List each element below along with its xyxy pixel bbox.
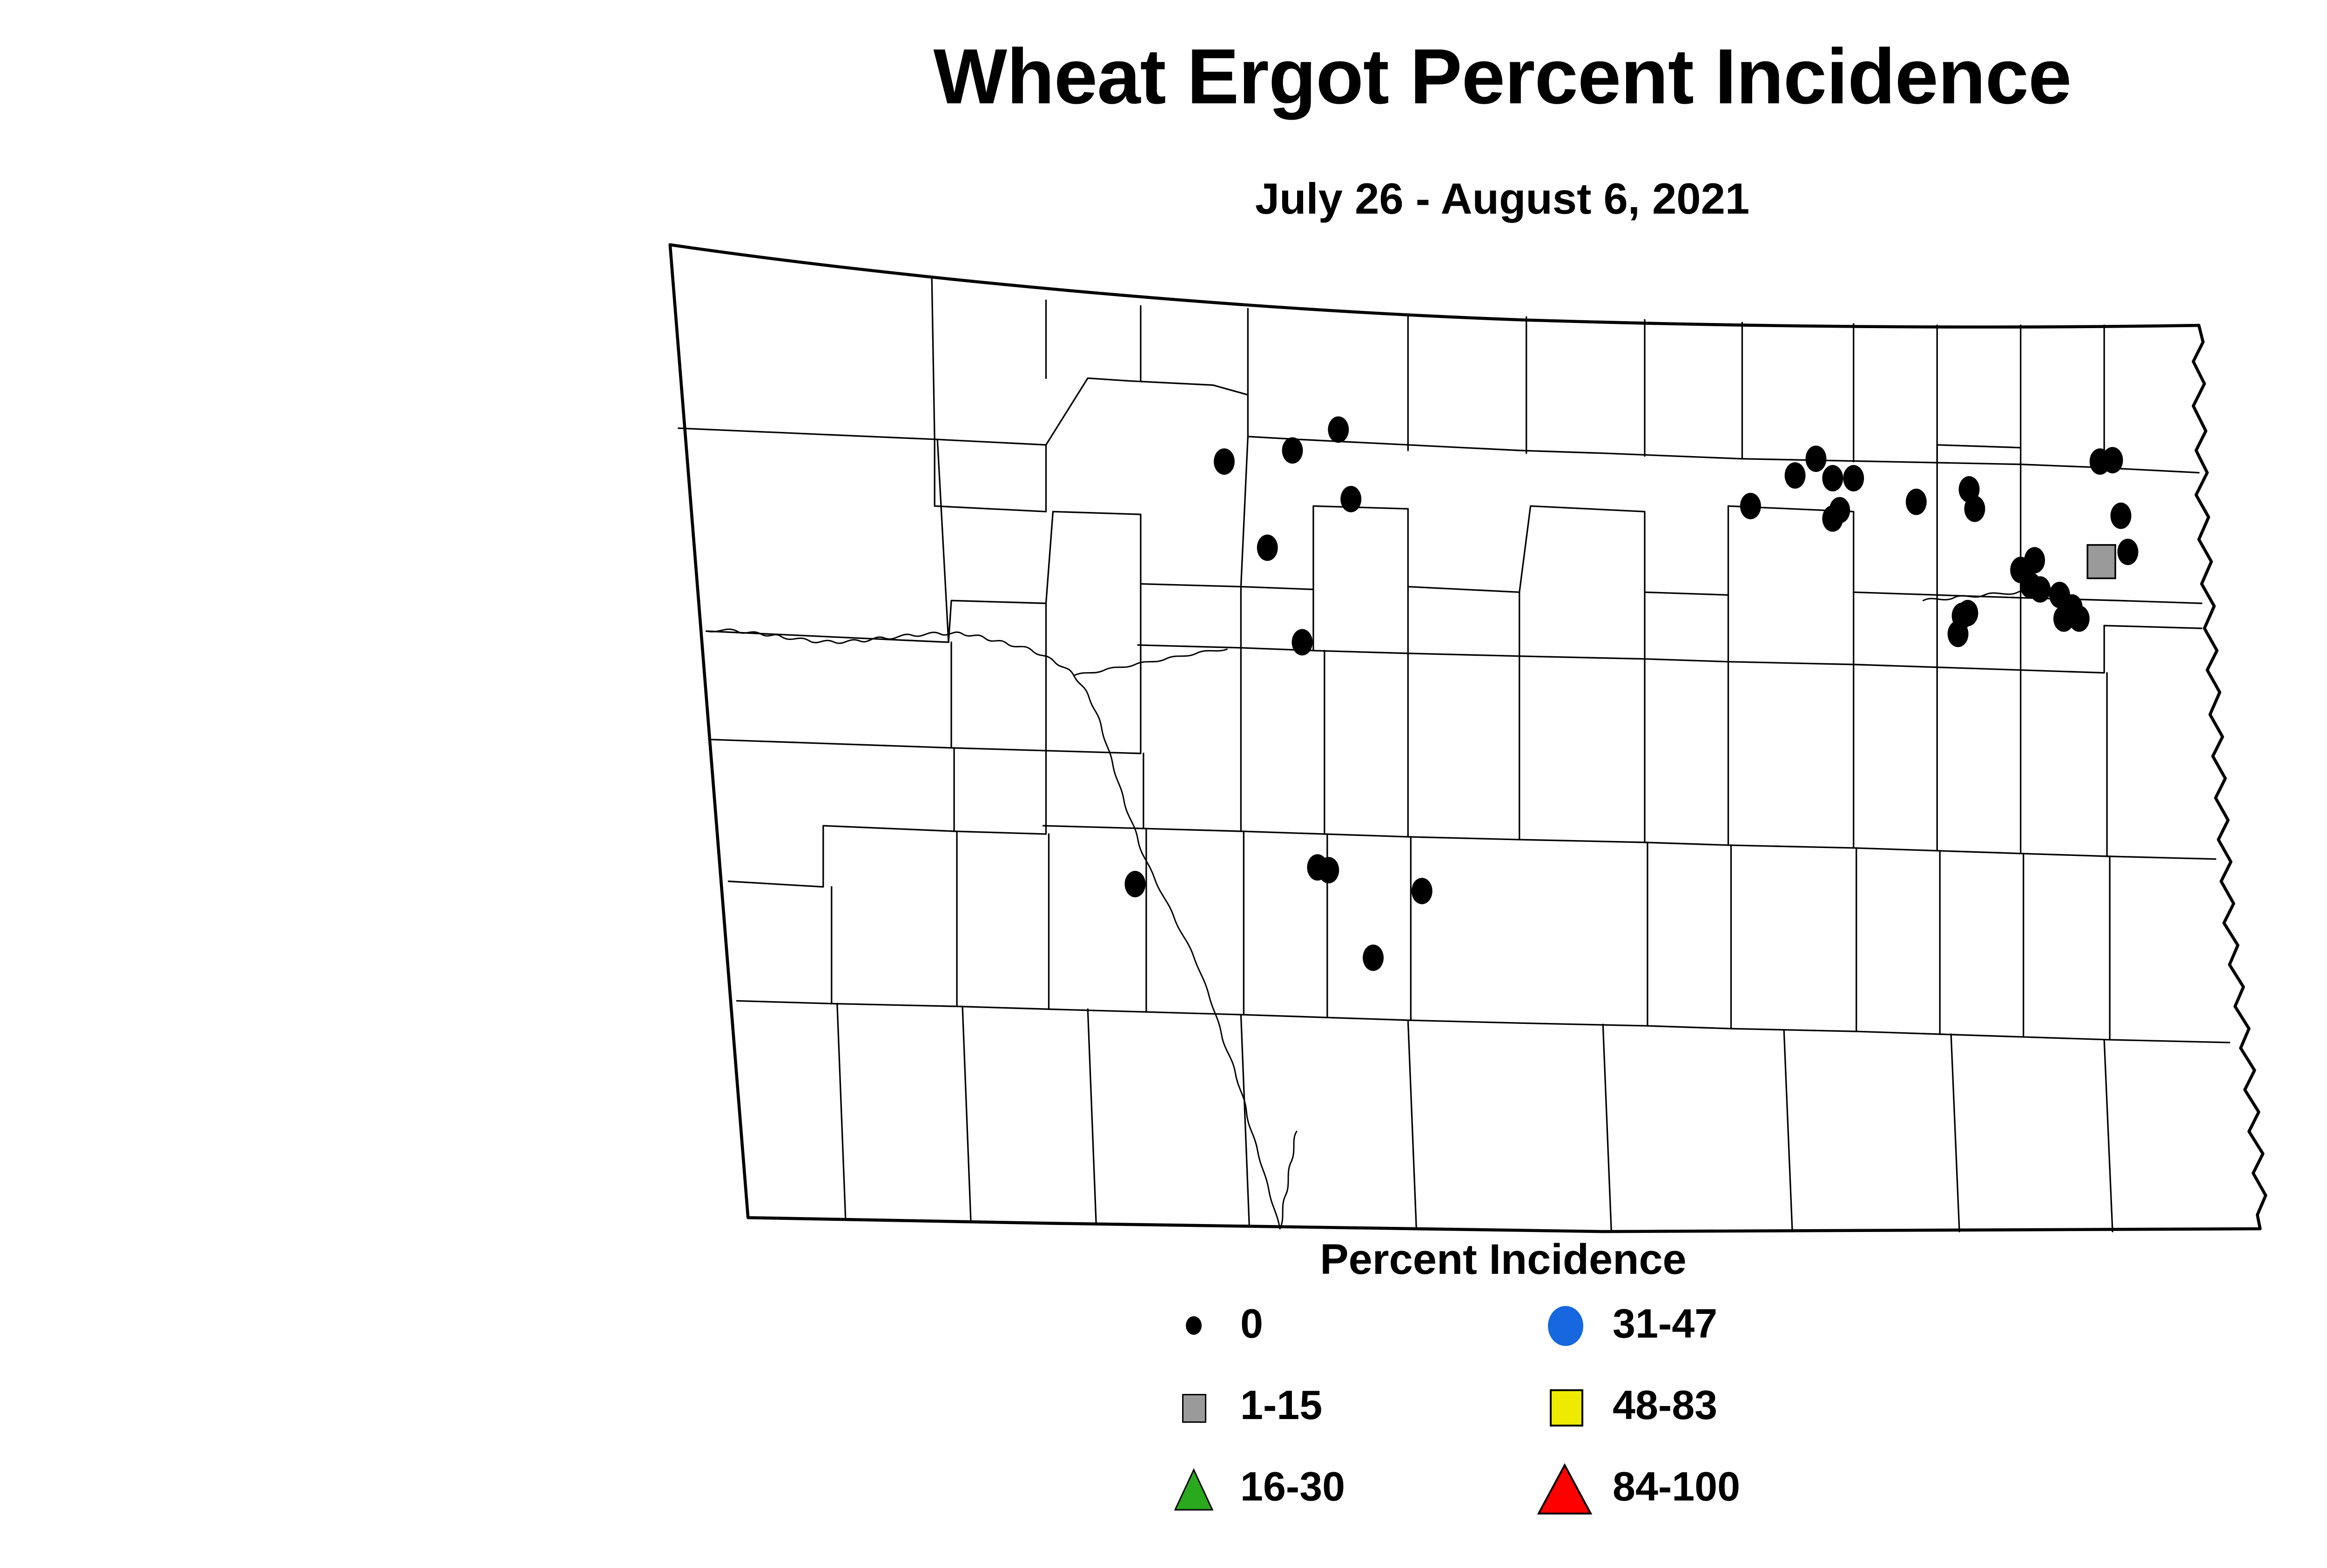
legend-column-right: 31-47 48-83 84-100 bbox=[1536, 1299, 1890, 1543]
legend-title: Percent Incidence bbox=[1108, 1238, 1899, 1281]
marker-dot-zero[interactable] bbox=[1328, 417, 1349, 443]
page-subtitle: July 26 - August 6, 2021 bbox=[0, 177, 2327, 221]
marker-square-1-15[interactable] bbox=[2087, 545, 2115, 579]
red-triangle-icon bbox=[1536, 1461, 1596, 1517]
legend: Percent Incidence 0 1-15 bbox=[1108, 1238, 1899, 1527]
legend-item-0[interactable]: 0 bbox=[1163, 1299, 1517, 1380]
marker-dot-zero[interactable] bbox=[1363, 944, 1384, 971]
legend-item-label: 0 bbox=[1240, 1301, 1263, 1346]
marker-dot-zero[interactable] bbox=[1822, 465, 1843, 491]
yellow-square-icon bbox=[1536, 1380, 1596, 1436]
blue-circle-icon bbox=[1536, 1299, 1596, 1354]
legend-item-1-15[interactable]: 1-15 bbox=[1163, 1380, 1517, 1461]
marker-dot-zero[interactable] bbox=[1948, 621, 1969, 647]
marker-dot-zero[interactable] bbox=[1843, 465, 1864, 491]
marker-dot-zero[interactable] bbox=[1257, 534, 1278, 561]
marker-dot-zero[interactable] bbox=[1740, 493, 1761, 519]
marker-dot-zero[interactable] bbox=[1340, 486, 1361, 512]
marker-dot-zero[interactable] bbox=[2069, 606, 2090, 632]
marker-dot-zero[interactable] bbox=[1292, 629, 1313, 656]
marker-dot-zero[interactable] bbox=[1906, 489, 1927, 515]
legend-item-16-30[interactable]: 16-30 bbox=[1163, 1461, 1517, 1543]
marker-dot-zero[interactable] bbox=[2102, 447, 2123, 473]
north-dakota-county-map[interactable] bbox=[628, 228, 2313, 1243]
marker-dot-zero[interactable] bbox=[1964, 496, 1985, 522]
marker-dot-zero[interactable] bbox=[1282, 437, 1303, 464]
marker-dot-zero[interactable] bbox=[2118, 538, 2139, 565]
legend-item-label: 1-15 bbox=[1240, 1383, 1322, 1428]
marker-dot-zero[interactable] bbox=[1806, 445, 1827, 472]
legend-item-label: 16-30 bbox=[1240, 1464, 1345, 1509]
county-layer bbox=[670, 245, 2266, 1232]
marker-dot-zero[interactable] bbox=[2111, 503, 2132, 529]
marker-dot-zero[interactable] bbox=[1125, 871, 1146, 897]
marker-dot-zero[interactable] bbox=[1785, 462, 1806, 489]
marker-dot-zero[interactable] bbox=[1318, 857, 1339, 883]
marker-dot-zero[interactable] bbox=[2030, 576, 2051, 603]
marker-dot-zero[interactable] bbox=[1412, 878, 1433, 904]
legend-item-label: 31-47 bbox=[1613, 1301, 1717, 1346]
gray-square-icon bbox=[1163, 1380, 1224, 1436]
legend-item-48-83[interactable]: 48-83 bbox=[1536, 1380, 1890, 1461]
marker-dot-zero[interactable] bbox=[2024, 547, 2045, 573]
marker-dot-zero[interactable] bbox=[1214, 448, 1235, 475]
legend-item-label: 48-83 bbox=[1613, 1383, 1717, 1428]
legend-item-label: 84-100 bbox=[1613, 1464, 1740, 1509]
state-outline bbox=[670, 245, 2266, 1232]
legend-item-31-47[interactable]: 31-47 bbox=[1536, 1299, 1890, 1380]
page-title: Wheat Ergot Percent Incidence bbox=[0, 37, 2327, 115]
map-figure: Wheat Ergot Percent Incidence July 26 - … bbox=[0, 0, 2327, 1568]
map-svg bbox=[628, 228, 2313, 1243]
legend-item-84-100[interactable]: 84-100 bbox=[1536, 1461, 1890, 1543]
legend-column-left: 0 1-15 16-30 bbox=[1163, 1299, 1517, 1543]
green-triangle-icon bbox=[1163, 1461, 1224, 1517]
marker-dot-zero[interactable] bbox=[1822, 505, 1843, 532]
black-circle-icon bbox=[1163, 1299, 1224, 1354]
